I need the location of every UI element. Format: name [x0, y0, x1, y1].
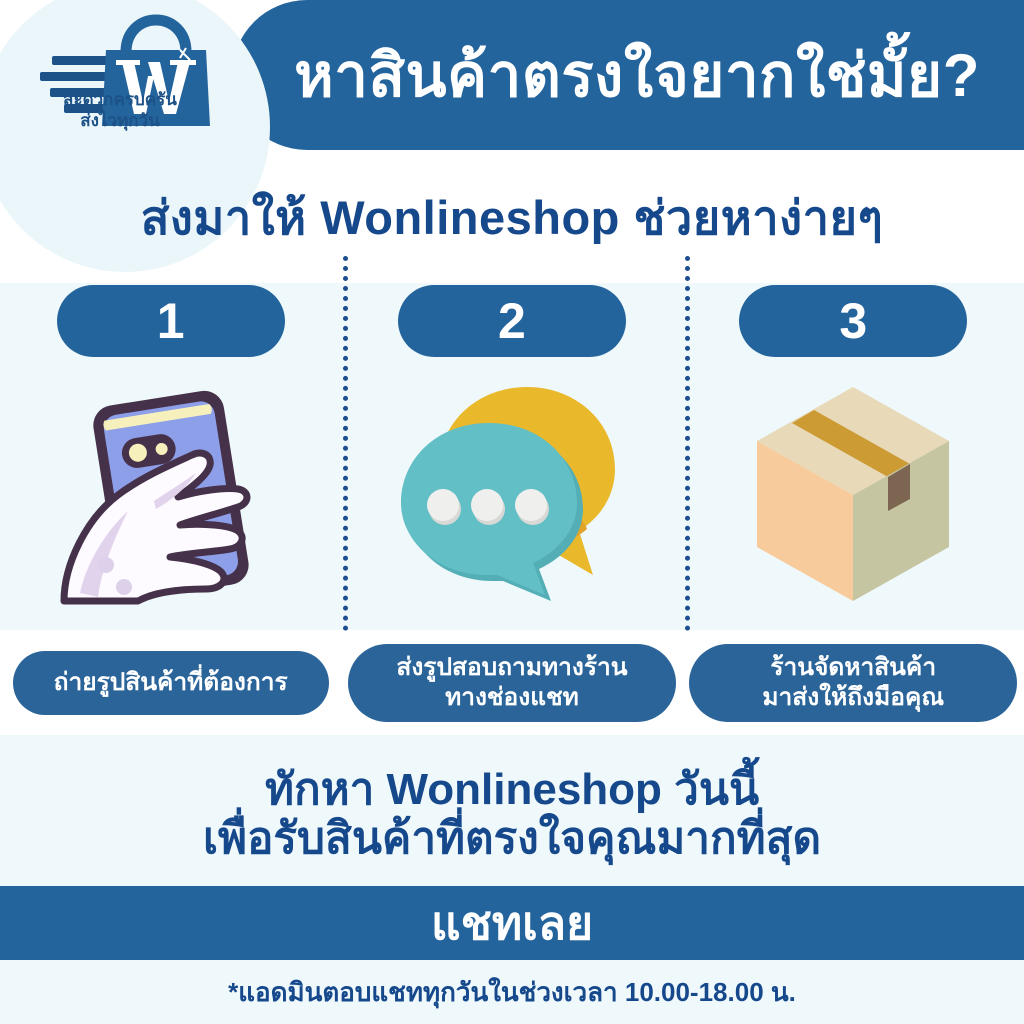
step-1: 1	[0, 283, 341, 633]
step-number-badge: 2	[398, 285, 626, 357]
footer-note: *แอดมินตอบแชททุกวันในช่วงเวลา 10.00-18.0…	[0, 960, 1024, 1024]
steps-row: 1	[0, 283, 1024, 633]
chat-now-button[interactable]: แชทเลย	[0, 886, 1024, 960]
step-2: 2	[341, 283, 682, 633]
captions-row: ถ่ายรูปสินค้าที่ต้องการ ส่งรูปสอบถามทางร…	[0, 630, 1024, 735]
caption-cell-2: ส่งรูปสอบถามทางร้าน ทางช่องแชท	[341, 630, 682, 735]
step-3: 3	[683, 283, 1024, 633]
step-caption-3: ร้านจัดหาสินค้า มาส่งให้ถึงมือคุณ	[689, 644, 1017, 722]
hand-holding-phone-icon	[46, 369, 296, 619]
caption-cell-3: ร้านจัดหาสินค้า มาส่งให้ถึงมือคุณ	[683, 630, 1024, 735]
cta-line-2: เพื่อรับสินค้าที่ตรงใจคุณมากที่สุด	[203, 814, 821, 863]
brand-tagline: สะดวกครบครัน ส่งไวทุกวัน	[0, 90, 240, 131]
step-number-badge: 3	[739, 285, 967, 357]
caption-cell-1: ถ่ายรูปสินค้าที่ต้องการ	[0, 630, 341, 735]
cta-headline: ทักหา Wonlineshop วันนี้ เพื่อรับสินค้าท…	[0, 742, 1024, 886]
step-caption-1: ถ่ายรูปสินค้าที่ต้องการ	[13, 651, 329, 715]
subtitle-text: ส่งมาให้ Wonlineshop ช่วยหาง่ายๆ	[0, 178, 1024, 256]
parcel-box-icon	[728, 369, 978, 619]
shopping-bag-icon	[30, 14, 230, 154]
brand-tagline-line2: ส่งไวทุกวัน	[0, 111, 240, 132]
chat-bubbles-icon	[387, 369, 637, 619]
page-title: หาสินค้าตรงใจยากใช่มั้ย?	[250, 0, 1024, 150]
promo-poster: หาสินค้าตรงใจยากใช่มั้ย?	[0, 0, 1024, 1024]
brand-logo	[30, 14, 230, 154]
step-caption-2: ส่งรูปสอบถามทางร้าน ทางช่องแชท	[348, 644, 676, 722]
brand-tagline-line1: สะดวกครบครัน	[0, 90, 240, 111]
cta-line-1: ทักหา Wonlineshop วันนี้	[265, 765, 759, 814]
step-number-badge: 1	[57, 285, 285, 357]
